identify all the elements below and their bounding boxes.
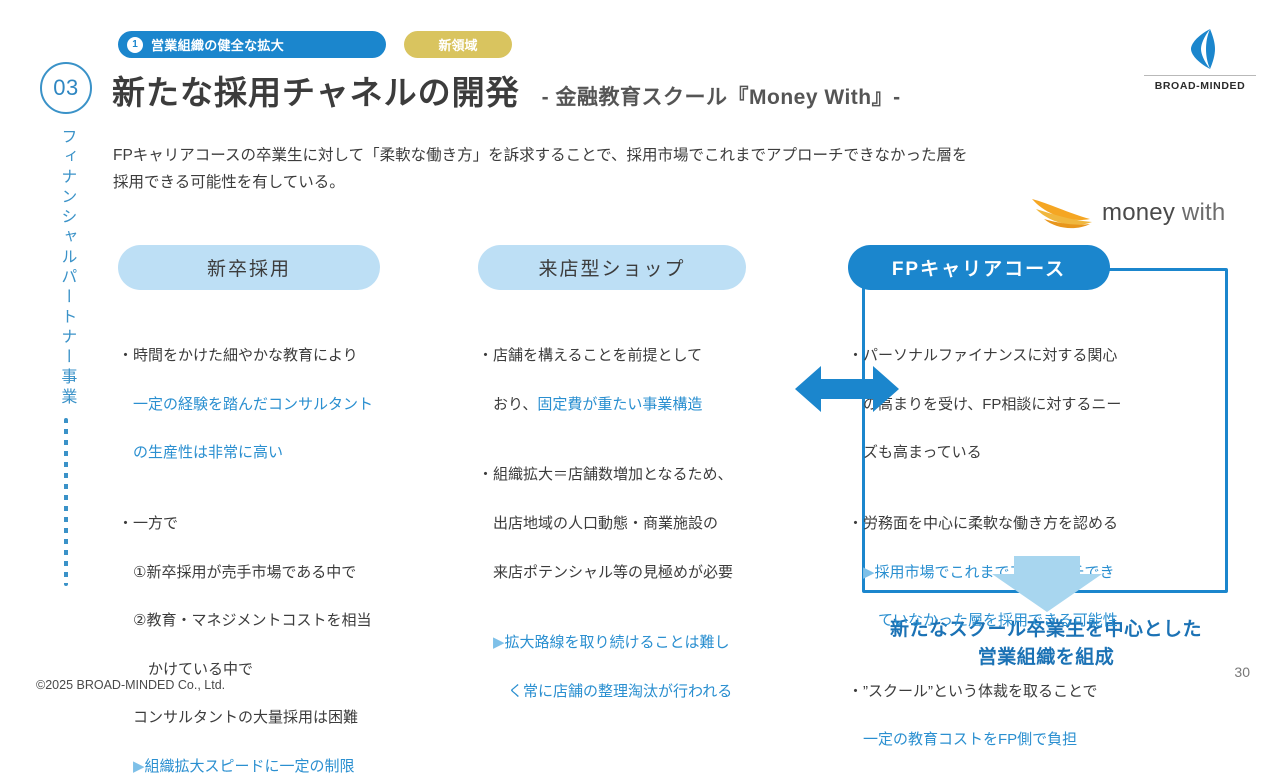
- list-item: ・”スクール”という体裁を取ることで 一定の教育コストをFP側で負担: [848, 656, 1198, 753]
- c2b3-line2: く常に店舗の整理淘汰が行われる: [478, 683, 732, 700]
- c2b2-line3: 来店ポテンシャル等の見極めが必要: [478, 564, 733, 581]
- copyright-text: ©2025 BROAD-MINDED Co., Ltd.: [36, 678, 225, 692]
- c2b2-line2: 出店地域の人口動態・商業施設の: [478, 515, 718, 532]
- new-domain-tag[interactable]: 新領域: [404, 31, 512, 58]
- c2b3-line1: 拡大路線を取り続けることは難し: [505, 634, 730, 651]
- list-item: ・組織拡大＝店舗数増加となるため、 出店地域の人口動態・商業施設の 来店ポテンシ…: [478, 439, 808, 585]
- column-header-retail-shop[interactable]: 来店型ショップ: [478, 245, 746, 290]
- money-with-swoosh-icon: [1030, 193, 1096, 233]
- c1b1-line2: 一定の経験を踏んだコンサルタント: [118, 396, 373, 413]
- header-pill-row: 1 営業組織の健全な拡大 新領域: [118, 31, 512, 58]
- c2b1-line2b: 固定費が重たい事業構造: [537, 396, 702, 413]
- list-item: ・店舗を構えることを前提として おり、固定費が重たい事業構造: [478, 320, 808, 417]
- column-header-fp-career-course[interactable]: FPキャリアコース: [848, 245, 1110, 290]
- page-number: 30: [1234, 664, 1250, 680]
- category-number-badge: 1: [127, 37, 143, 53]
- c1b2-line4: かけている中で: [118, 661, 253, 678]
- c1b2-line3: ②教育・マネジメントコストを相当: [118, 612, 371, 629]
- list-item: ・時間をかけた細やかな教育により 一定の経験を踏んだコンサルタント の生産性は非…: [118, 320, 448, 466]
- list-item: ・一方で ①新卒採用が売手市場である中で ②教育・マネジメントコストを相当 かけ…: [118, 488, 448, 779]
- money-with-text-bold: money: [1102, 199, 1175, 226]
- c2b1-line2a: おり、: [478, 396, 537, 413]
- section-label: フィナンシャルパートナー事業: [58, 128, 75, 408]
- money-with-wordmark: money with: [1102, 199, 1225, 227]
- column1-bullets: ・時間をかけた細やかな教育により 一定の経験を踏んだコンサルタント の生産性は非…: [118, 320, 448, 779]
- rail-dotted-line: [64, 418, 68, 586]
- bidirectional-arrow-icon: [795, 362, 899, 416]
- c1b1-line3: の生産性は非常に高い: [118, 444, 283, 461]
- money-with-text-light: with: [1182, 199, 1225, 226]
- category-pill[interactable]: 1 営業組織の健全な拡大: [118, 31, 386, 58]
- broad-minded-mark-icon: [1177, 28, 1223, 70]
- list-item: ▶拡大路線を取り続けることは難し く常に店舗の整理淘汰が行われる: [478, 607, 808, 704]
- column-fp-career-course: FPキャリアコース ・パーソナルファイナンスに対する関心 の高まりを受け、FP相…: [848, 245, 1110, 753]
- column3-bullets: ・パーソナルファイナンスに対する関心 の高まりを受け、FP相談に対するニー ズも…: [848, 320, 1198, 753]
- c3b1-line3: ズも高まっている: [848, 444, 982, 461]
- section-number: 03: [40, 62, 92, 114]
- arrow-marker-icon: ▶: [848, 564, 875, 581]
- c3b2-line3: ていなかった層を採用できる可能性: [848, 612, 1118, 629]
- c1b2-line1: ・一方で: [118, 515, 178, 532]
- category-pill-label: 営業組織の健全な拡大: [151, 35, 284, 54]
- c1b1-line1: ・時間をかけた細やかな教育により: [118, 347, 358, 364]
- c3b3-line1: ・”スクール”という体裁を取ることで: [848, 683, 1098, 700]
- c1b2-line2: ①新卒採用が売手市場である中で: [118, 564, 356, 581]
- c2b1-line1: ・店舗を構えることを前提として: [478, 347, 702, 364]
- column-header-new-graduate[interactable]: 新卒採用: [118, 245, 380, 290]
- page-title: 新たな採用チャネルの開発: [112, 66, 520, 114]
- arrow-marker-icon: ▶: [478, 634, 505, 651]
- c2b2-line1: ・組織拡大＝店舗数増加となるため、: [478, 466, 733, 483]
- list-item: ・パーソナルファイナンスに対する関心 の高まりを受け、FP相談に対するニー ズも…: [848, 320, 1198, 466]
- lead-paragraph: FPキャリアコースの卒業生に対して「柔軟な働き方」を訴求することで、採用市場でこ…: [113, 143, 1173, 196]
- c1b2-line6: 組織拡大スピードに一定の制限: [145, 758, 355, 775]
- column2-bullets: ・店舗を構えることを前提として おり、固定費が重たい事業構造 ・組織拡大＝店舗数…: [478, 320, 808, 704]
- arrow-marker-icon: ▶: [118, 758, 145, 775]
- column-new-graduate: 新卒採用 ・時間をかけた細やかな教育により 一定の経験を踏んだコンサルタント の…: [118, 245, 380, 779]
- section-rail: 03 フィナンシャルパートナー事業: [34, 62, 98, 586]
- down-arrow-icon: [992, 556, 1102, 612]
- c3b2-line1: ・労務面を中心に柔軟な働き方を認める: [848, 515, 1118, 532]
- c3b3-line2: 一定の教育コストをFP側で負担: [848, 731, 1077, 748]
- broad-minded-logo: BROAD-MINDED: [1138, 28, 1262, 92]
- page-subtitle: - 金融教育スクール『Money With』-: [542, 81, 901, 111]
- c1b2-line5: コンサルタントの大量採用は困難: [118, 709, 358, 726]
- money-with-logo: money with: [1030, 193, 1225, 233]
- column-retail-shop: 来店型ショップ ・店舗を構えることを前提として おり、固定費が重たい事業構造 ・…: [478, 245, 746, 704]
- broad-minded-wordmark: BROAD-MINDED: [1144, 75, 1256, 92]
- page-title-row: 新たな採用チャネルの開発 - 金融教育スクール『Money With』-: [112, 66, 901, 114]
